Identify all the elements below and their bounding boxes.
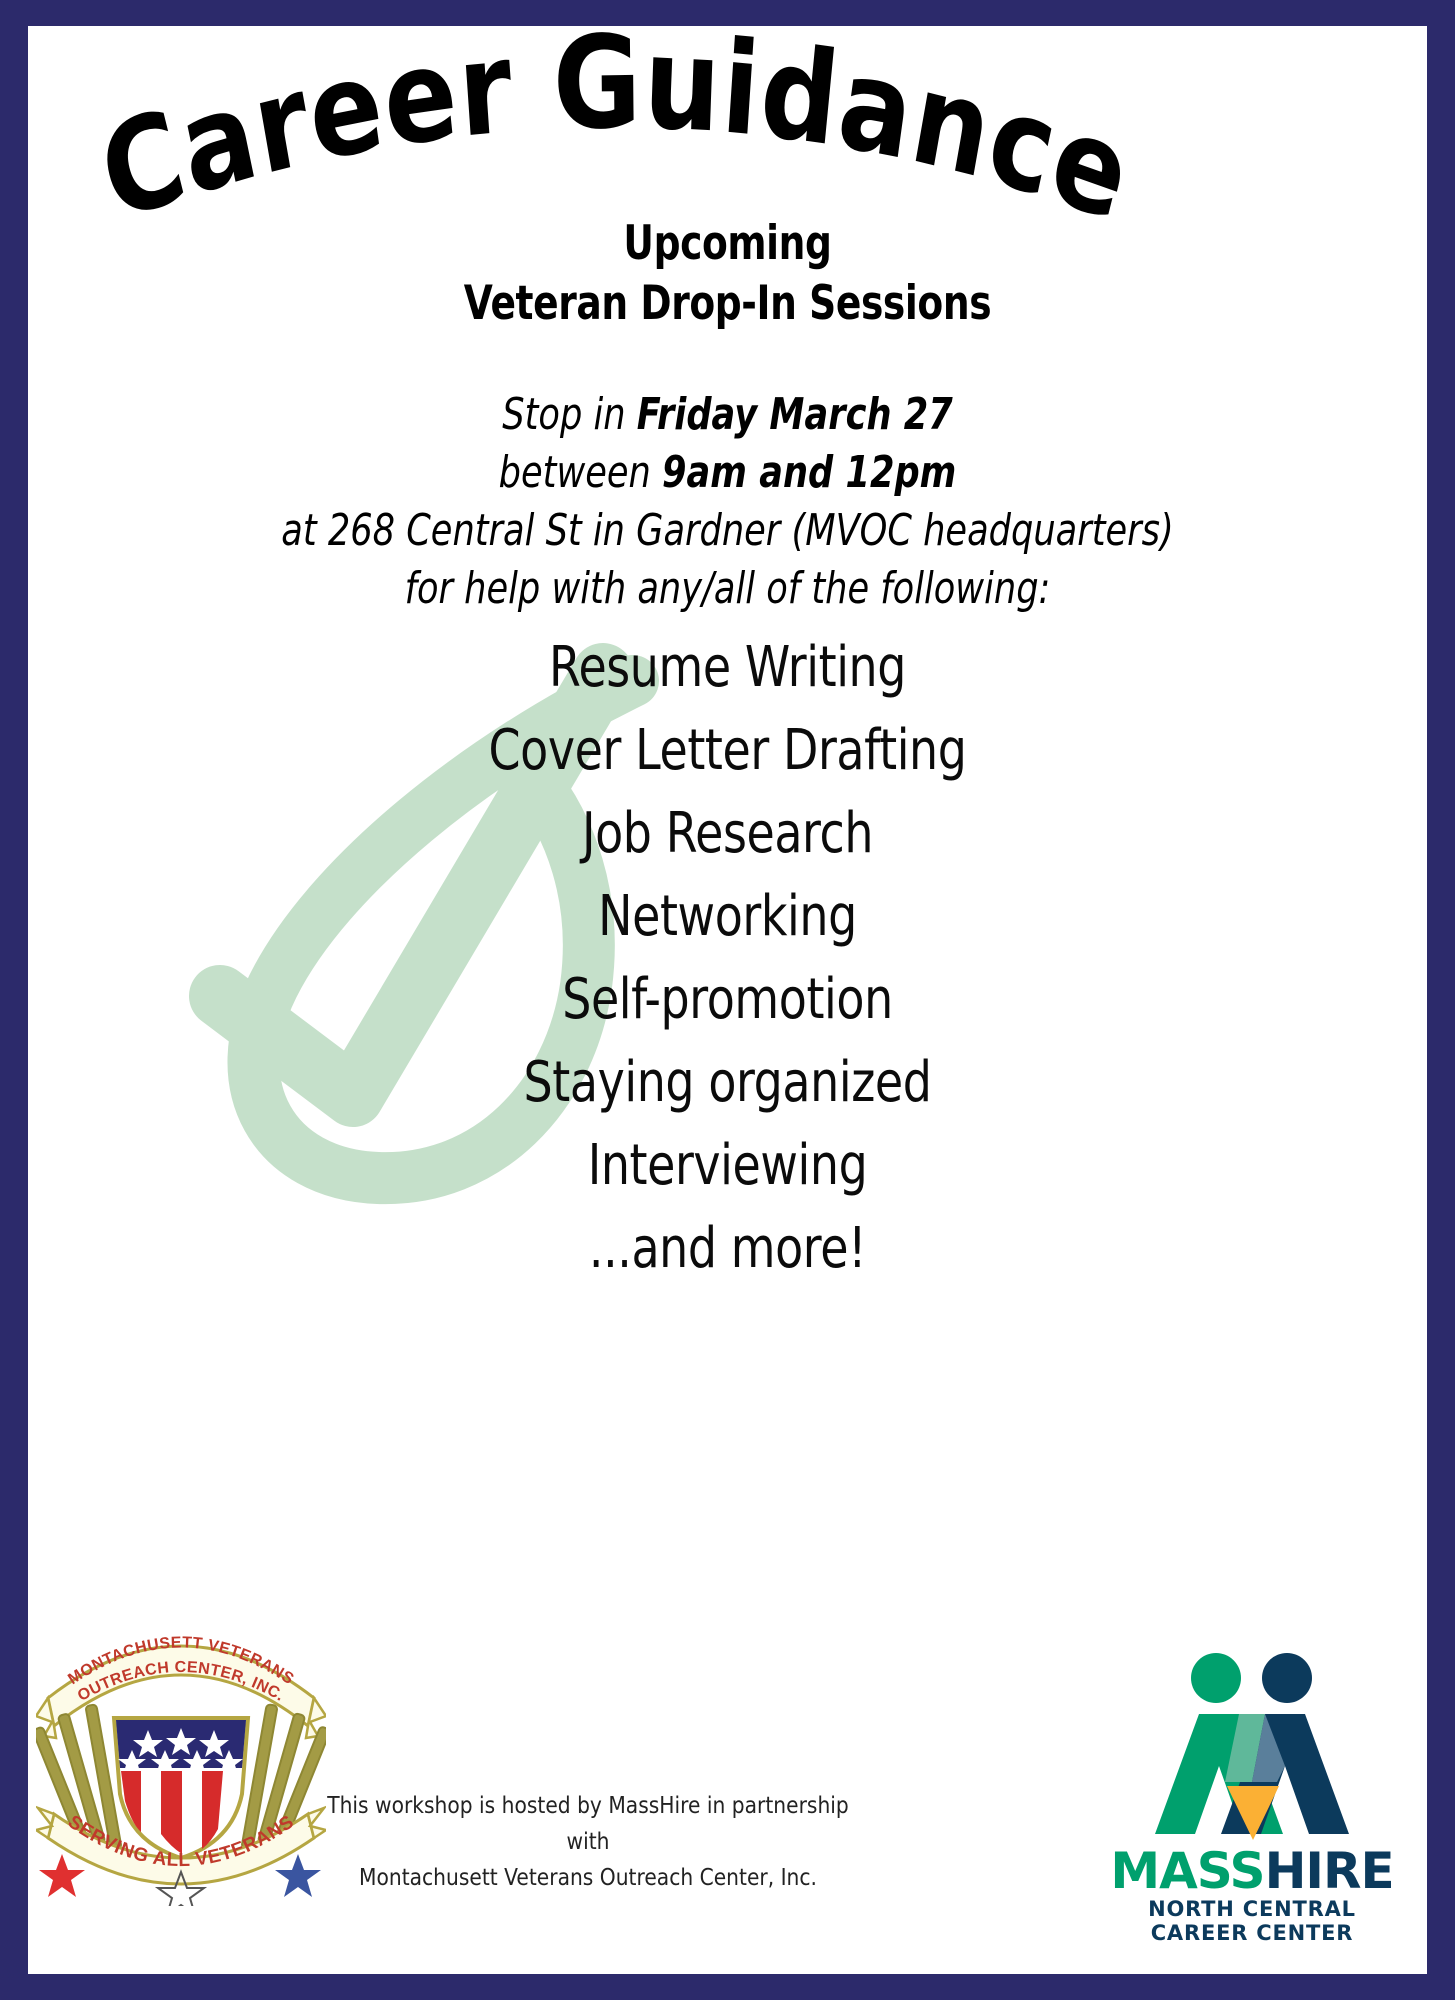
list-item: Resume Writing <box>154 626 1301 709</box>
intro-line-help: for help with any/all of the following: <box>168 560 1287 618</box>
mvoc-star-red <box>39 1854 85 1897</box>
masshire-head-left <box>1191 1653 1241 1703</box>
intro-time-bold: 9am and 12pm <box>662 447 956 498</box>
subtitle-sessions: Veteran Drop-In Sessions <box>168 274 1287 334</box>
poster-canvas: Career Guidance Upcoming Veteran Drop-In… <box>28 26 1427 1974</box>
intro-date-bold: Friday March 27 <box>637 389 953 440</box>
masshire-word-mass: MASS <box>1110 1842 1264 1900</box>
masshire-logo: MASSHIRE NORTH CENTRAL CAREER CENTER <box>1087 1636 1417 1946</box>
footer-credit-line-2: Montachusett Veterans Outreach Center, I… <box>315 1860 861 1896</box>
list-item: Cover Letter Drafting <box>154 709 1301 792</box>
intro-paragraph: Stop in Friday March 27 between 9am and … <box>28 386 1427 618</box>
services-list: Resume Writing Cover Letter Drafting Job… <box>28 626 1427 1290</box>
list-item: Interviewing <box>154 1124 1301 1207</box>
list-item: Self-promotion <box>154 958 1301 1041</box>
poster-root: Career Guidance Upcoming Veteran Drop-In… <box>0 0 1455 2000</box>
masshire-head-right <box>1262 1653 1312 1703</box>
list-item: Networking <box>154 875 1301 958</box>
intro-stop-in: Stop in <box>502 389 636 440</box>
masshire-word-hire: HIRE <box>1265 1842 1394 1900</box>
masshire-tagline-line-1: NORTH CENTRAL <box>1148 1897 1356 1921</box>
intro-line-address: at 268 Central St in Gardner (MVOC headq… <box>168 502 1287 560</box>
subtitle-upcoming: Upcoming <box>168 214 1287 274</box>
footer-credit: This workshop is hosted by MassHire in p… <box>278 1788 898 1896</box>
list-item: ...and more! <box>154 1207 1301 1290</box>
intro-line-date: Stop in Friday March 27 <box>168 386 1287 444</box>
intro-between: between <box>499 447 662 498</box>
list-item: Staying organized <box>154 1041 1301 1124</box>
intro-line-time: between 9am and 12pm <box>168 444 1287 502</box>
footer-credit-line-1: This workshop is hosted by MassHire in p… <box>315 1788 861 1860</box>
list-item: Job Research <box>154 792 1301 875</box>
masshire-tagline-line-2: CAREER CENTER <box>1151 1921 1354 1945</box>
svg-text:MASSHIRE: MASSHIRE <box>1110 1842 1393 1900</box>
